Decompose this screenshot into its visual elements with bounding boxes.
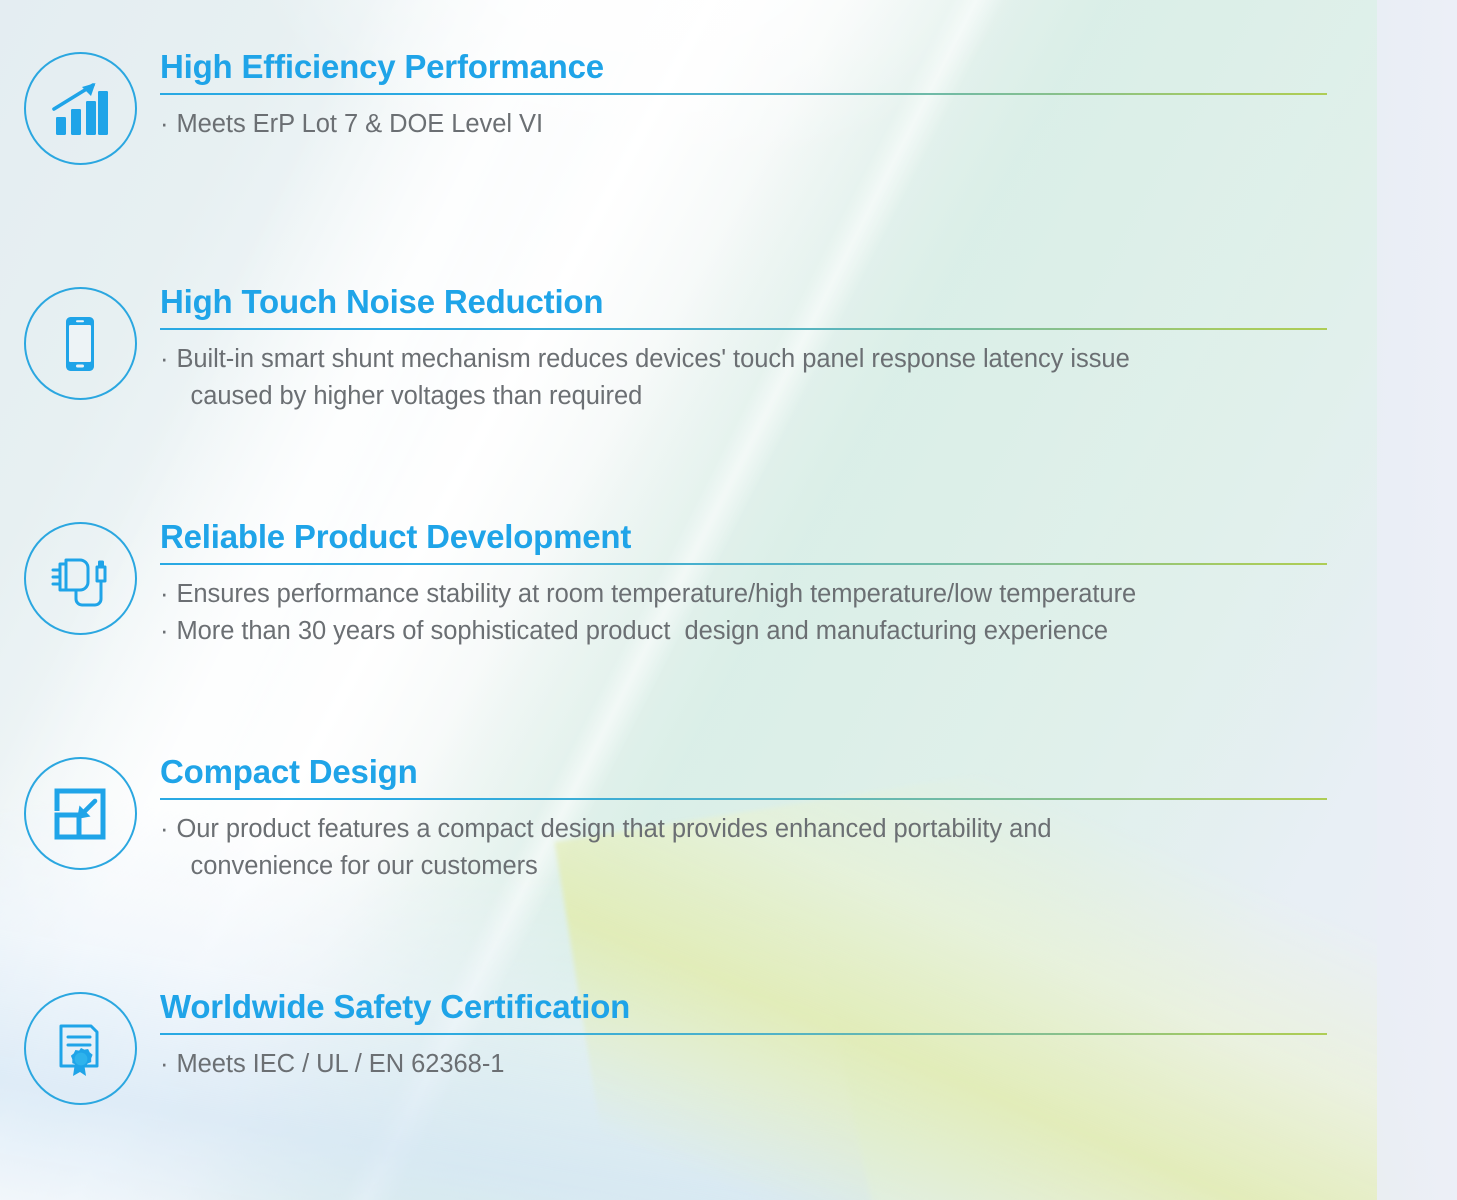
feature-divider [160, 328, 1327, 330]
icon-container [0, 988, 160, 1105]
bullet-marker: · [160, 106, 168, 143]
bullet-marker: · [160, 341, 168, 378]
bullet-marker: · [160, 811, 168, 848]
feature-divider [160, 93, 1327, 95]
feature-item-high-touch-noise-reduction: High Touch Noise Reduction · Built-in sm… [0, 283, 1457, 416]
feature-bullet: · More than 30 years of sophisticated pr… [160, 613, 1387, 650]
feature-bullet-list: · Our product features a compact design … [160, 811, 1387, 885]
feature-item-high-efficiency-performance: High Efficiency Performance · Meets ErP … [0, 48, 1457, 165]
certificate-seal-icon [24, 992, 137, 1105]
feature-bullet: · Built-in smart shunt mechanism reduces… [160, 341, 1387, 415]
feature-bullet-list: · Meets IEC / UL / EN 62368-1 [160, 1046, 1387, 1083]
feature-divider [160, 563, 1327, 565]
feature-bullet-list: · Ensures performance stability at room … [160, 576, 1387, 650]
smartphone-icon [24, 287, 137, 400]
feature-item-reliable-product-development: Reliable Product Development · Ensures p… [0, 518, 1457, 651]
feature-title: Compact Design [160, 753, 1387, 792]
feature-item-compact-design: Compact Design · Our product features a … [0, 753, 1457, 886]
bullet-text: Meets ErP Lot 7 & DOE Level VI [176, 106, 543, 143]
bullet-marker: · [160, 576, 168, 613]
power-adapter-icon [24, 522, 137, 635]
feature-title: High Efficiency Performance [160, 48, 1387, 87]
feature-bullet: · Meets IEC / UL / EN 62368-1 [160, 1046, 1387, 1083]
feature-bullet: · Meets ErP Lot 7 & DOE Level VI [160, 106, 1387, 143]
feature-text-block: Reliable Product Development · Ensures p… [160, 518, 1457, 651]
bullet-text: Our product features a compact design th… [176, 811, 1051, 885]
feature-bullet-list: · Built-in smart shunt mechanism reduces… [160, 341, 1387, 415]
icon-container [0, 518, 160, 635]
feature-title: Reliable Product Development [160, 518, 1387, 557]
feature-bullet: · Ensures performance stability at room … [160, 576, 1387, 613]
bar-chart-growth-icon [24, 52, 137, 165]
feature-item-worldwide-safety-certification: Worldwide Safety Certification · Meets I… [0, 988, 1457, 1105]
bullet-text: More than 30 years of sophisticated prod… [176, 613, 1108, 650]
feature-text-block: Compact Design · Our product features a … [160, 753, 1457, 886]
compact-resize-icon [24, 757, 137, 870]
feature-title: Worldwide Safety Certification [160, 988, 1387, 1027]
bullet-text: Ensures performance stability at room te… [176, 576, 1136, 613]
feature-title: High Touch Noise Reduction [160, 283, 1387, 322]
feature-text-block: Worldwide Safety Certification · Meets I… [160, 988, 1457, 1083]
icon-container [0, 48, 160, 165]
feature-bullet-list: · Meets ErP Lot 7 & DOE Level VI [160, 106, 1387, 143]
icon-container [0, 283, 160, 400]
feature-text-block: High Touch Noise Reduction · Built-in sm… [160, 283, 1457, 416]
bullet-marker: · [160, 613, 168, 650]
icon-container [0, 753, 160, 870]
bullet-marker: · [160, 1046, 168, 1083]
feature-divider [160, 798, 1327, 800]
feature-highlights-page: High Efficiency Performance · Meets ErP … [0, 0, 1457, 1200]
feature-divider [160, 1033, 1327, 1035]
bullet-text: Built-in smart shunt mechanism reduces d… [176, 341, 1129, 415]
feature-text-block: High Efficiency Performance · Meets ErP … [160, 48, 1457, 143]
feature-bullet: · Our product features a compact design … [160, 811, 1387, 885]
bullet-text: Meets IEC / UL / EN 62368-1 [176, 1046, 504, 1083]
